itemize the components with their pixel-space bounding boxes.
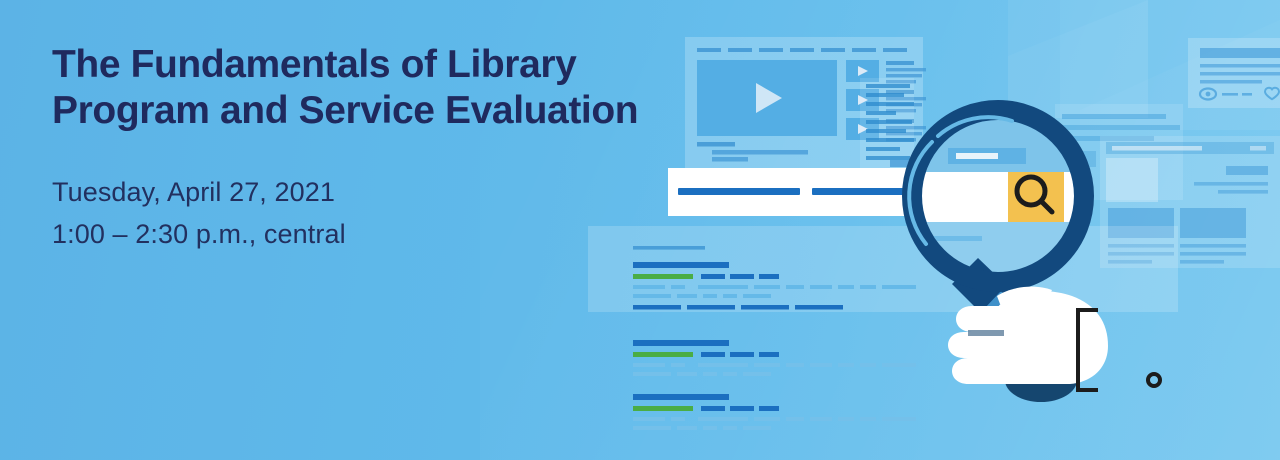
social-card [1188, 38, 1280, 108]
event-time: 1:00 – 2:30 p.m., central [52, 214, 346, 256]
nav-dashes [697, 48, 907, 52]
webinar-promo-banner: The Fundamentals of Library Program and … [0, 0, 1280, 460]
banner-details: Tuesday, April 27, 2021 1:00 – 2:30 p.m.… [52, 172, 346, 256]
illustration [560, 0, 1280, 460]
results-highlight-band [588, 226, 1178, 312]
result-url [633, 406, 693, 411]
result-snippet [633, 417, 916, 430]
search-result-item [633, 394, 916, 430]
side-text-column [860, 78, 914, 174]
search-query-line-2 [812, 188, 904, 195]
event-date: Tuesday, April 27, 2021 [52, 172, 346, 214]
result-url [633, 274, 693, 279]
result-title [633, 394, 729, 400]
search-query-line-1 [678, 188, 800, 195]
lens-content [922, 120, 1074, 272]
result-title [633, 262, 729, 268]
search-result-item [633, 340, 916, 376]
result-url [633, 352, 693, 357]
result-title [633, 340, 729, 346]
dot-decoration [1148, 374, 1160, 386]
result-snippet [633, 363, 916, 376]
